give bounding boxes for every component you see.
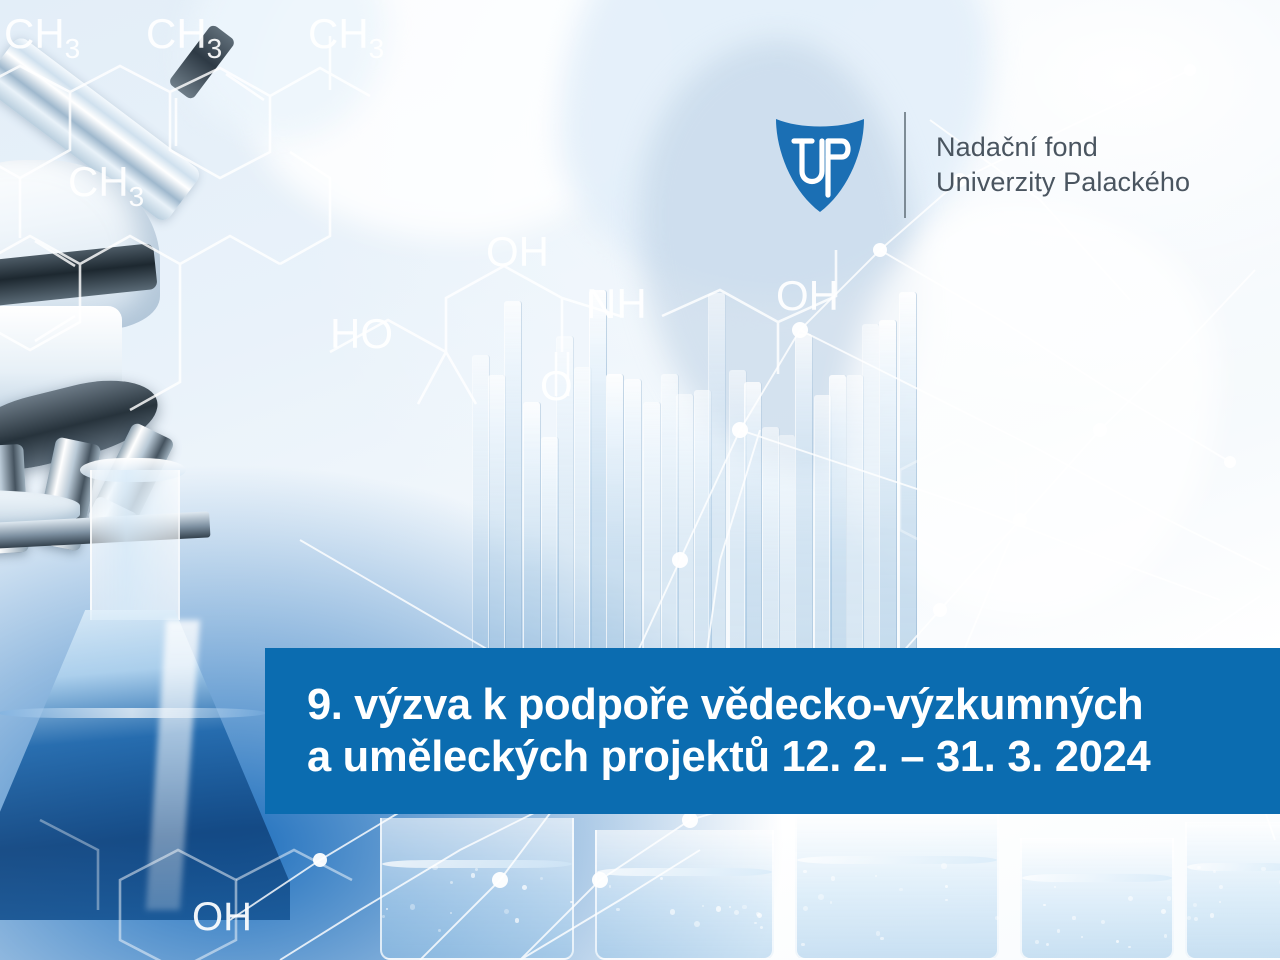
logo-block: Nadační fond Univerzity Palackého — [772, 112, 1190, 218]
test-tube — [899, 292, 917, 700]
test-tube — [879, 320, 897, 700]
logo-text-line2: Univerzity Palackého — [936, 165, 1190, 200]
logo-text-line1: Nadační fond — [936, 130, 1190, 165]
poster-canvas: CH3 CH3 CH3 CH3 OH HO NH O OH OH — [0, 0, 1280, 960]
test-tube — [589, 290, 607, 700]
beaker — [1020, 838, 1174, 960]
test-tube — [795, 334, 813, 700]
beaker — [595, 830, 774, 960]
beaker — [1185, 822, 1280, 960]
logo-text: Nadační fond Univerzity Palackého — [936, 130, 1190, 200]
test-tube-rack-photo — [470, 270, 920, 700]
beakers-photo — [380, 812, 1280, 960]
banner-headline-line1: 9. výzva k podpoře vědecko-výzkumných — [307, 679, 1268, 731]
test-tube — [504, 301, 522, 700]
beaker — [795, 812, 999, 960]
test-tube — [556, 336, 574, 700]
beaker — [380, 818, 574, 960]
announcement-banner: 9. výzva k podpoře vědecko-výzkumných a … — [265, 648, 1280, 814]
logo-divider — [904, 112, 906, 218]
banner-headline-line2: a uměleckých projektů 12. 2. – 31. 3. 20… — [307, 731, 1268, 783]
test-tube — [862, 324, 880, 700]
up-shield-logo-icon — [772, 115, 868, 215]
erlenmeyer-flask-photo — [0, 470, 300, 940]
test-tube — [708, 293, 726, 700]
